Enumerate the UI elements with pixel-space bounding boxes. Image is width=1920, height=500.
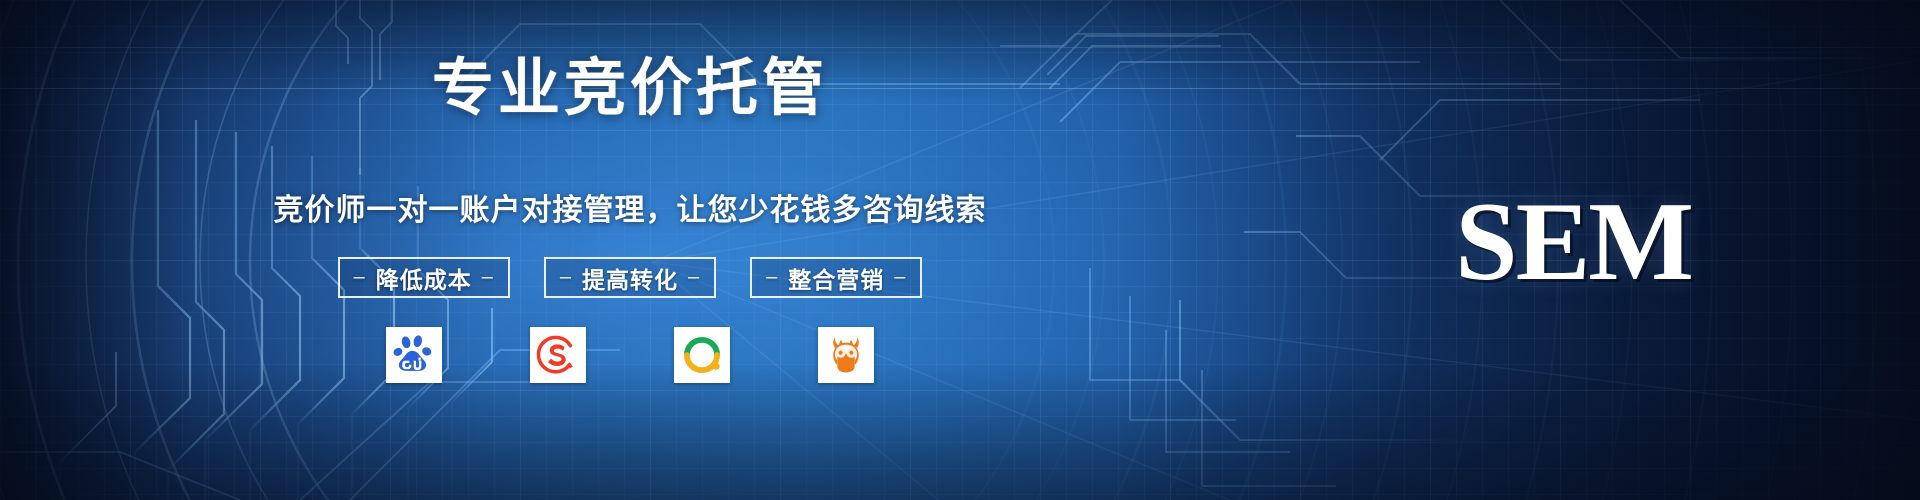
banner-content: 专业竞价托管 竞价师一对一账户对接管理，让您少花钱多咨询线索 – 降低成本 – … [0, 0, 1920, 500]
tag-dash-right: – [894, 266, 906, 289]
tag-dash-right: – [482, 266, 494, 289]
tag-dash-right: – [688, 266, 700, 289]
page-subtitle: 竞价师一对一账户对接管理，让您少花钱多咨询线索 [274, 196, 987, 226]
headline-block: 专业竞价托管 [0, 58, 1920, 120]
feature-tag-integrated-marketing[interactable]: – 整合营销 – [750, 257, 922, 298]
page-title: 专业竞价托管 [432, 58, 828, 120]
tag-dash-left: – [354, 266, 366, 289]
so360-ring-icon [680, 333, 724, 377]
tag-label: 降低成本 [376, 261, 472, 295]
sem-promo-banner: 专业竞价托管 竞价师一对一账户对接管理，让您少花钱多咨询线索 – 降低成本 – … [0, 0, 1920, 500]
tag-dash-left: – [766, 266, 778, 289]
tag-dash-left: – [560, 266, 572, 289]
shenma-horse-icon [824, 333, 868, 377]
sogou-s-icon [536, 333, 580, 377]
sem-wordmark: SEM [1455, 186, 1692, 298]
search-engine-logo-row [0, 327, 1920, 383]
feature-tag-lower-cost[interactable]: – 降低成本 – [338, 257, 510, 298]
baidu-paw-icon [392, 333, 436, 377]
tag-label: 提高转化 [582, 261, 678, 295]
logo-tile-360-search[interactable] [674, 327, 730, 383]
logo-tile-baidu[interactable] [386, 327, 442, 383]
logo-tile-sogou[interactable] [530, 327, 586, 383]
tag-label: 整合营销 [788, 261, 884, 295]
logo-tile-shenma[interactable] [818, 327, 874, 383]
feature-tag-raise-conversion[interactable]: – 提高转化 – [544, 257, 716, 298]
